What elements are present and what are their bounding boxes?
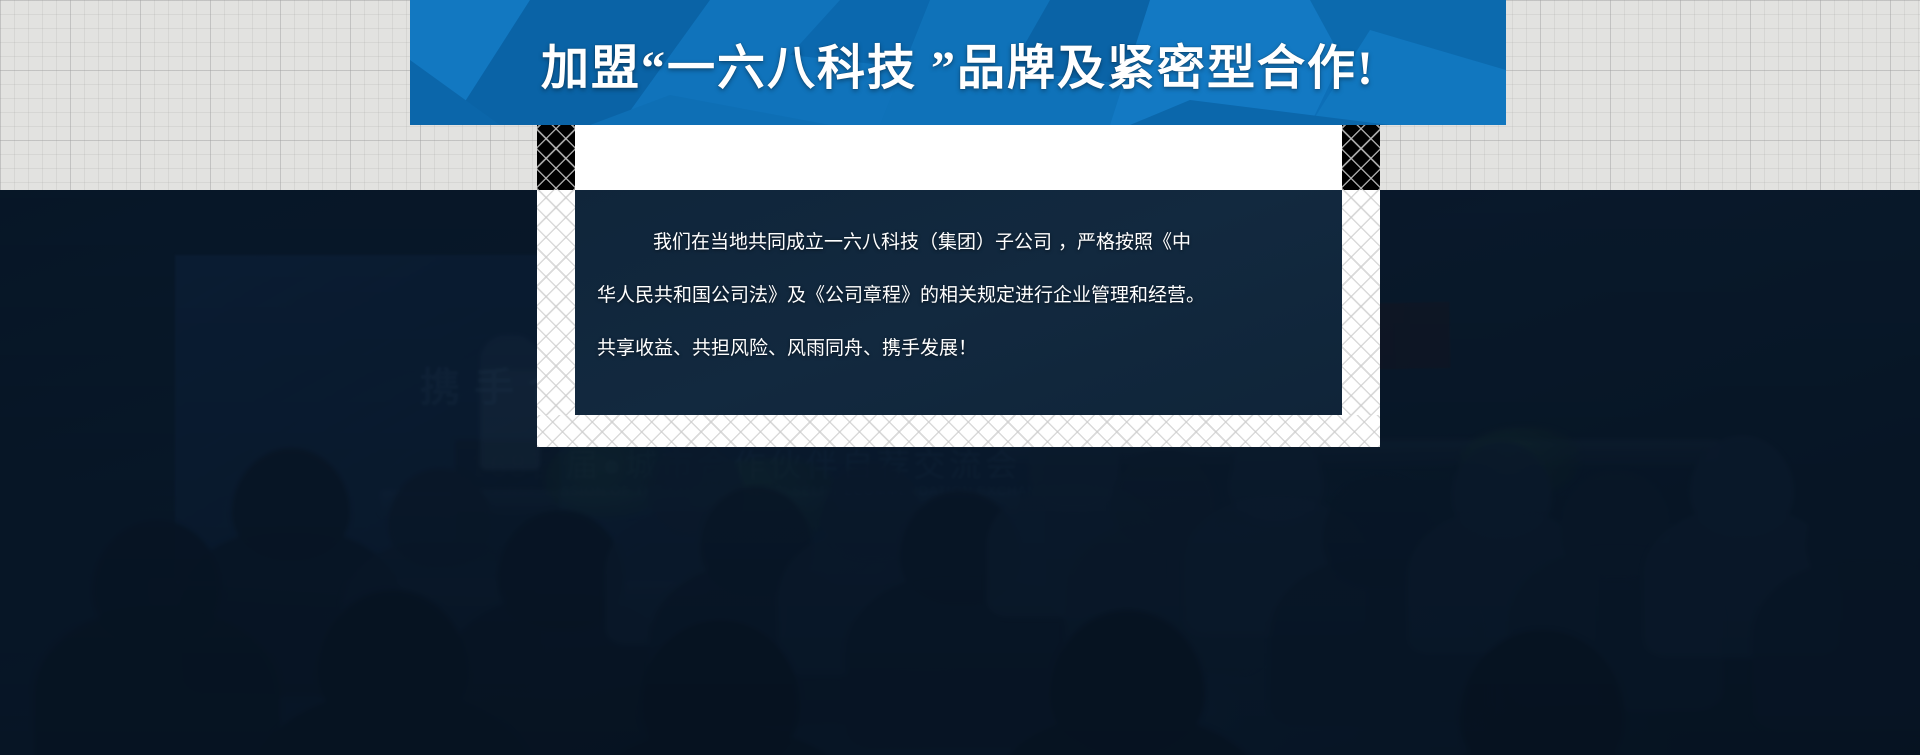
card-body-text: 我们在当地共同成立一六八科技（集团）子公司 ，严格按照《中 华人民共和国公司法》…: [575, 190, 1342, 415]
headline-title: 加盟“一六八科技 ”品牌及紧密型合作!: [410, 0, 1506, 125]
body-line-1: 我们在当地共同成立一六八科技（集团）子公司 ，严格按照《中: [597, 216, 1320, 269]
content-card: 我们在当地共同成立一六八科技（集团）子公司 ，严格按照《中 华人民共和国公司法》…: [537, 125, 1380, 447]
body-line-3: 共享收益、共担风险、风雨同舟、携手发展！: [597, 322, 1320, 375]
decor-strip-right: [1342, 125, 1380, 190]
card-rail-bottom: [537, 415, 1380, 447]
page-root: 携手合作 信息共享 助推智慧教育 168首届●城市合作伙伴自荐交流会 168 F…: [0, 0, 1920, 755]
body-line-2: 华人民共和国公司法》及《公司章程》的相关规定进行企业管理和经营。: [597, 269, 1320, 322]
decor-strip-left: [537, 125, 575, 190]
card-rail-left: [537, 190, 575, 447]
headline-banner: 加盟“一六八科技 ”品牌及紧密型合作!: [410, 0, 1506, 125]
card-rail-right: [1342, 190, 1380, 447]
